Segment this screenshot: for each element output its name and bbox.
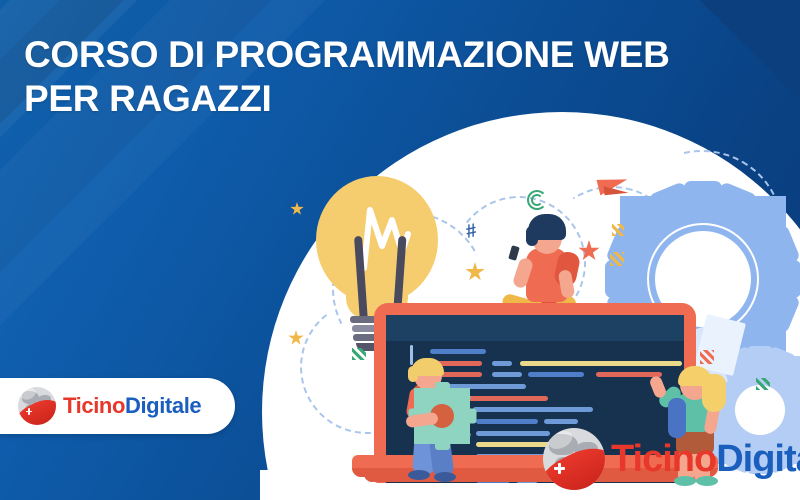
editor-titlebar — [386, 315, 684, 341]
watermark-logo: TicinoDigitale — [543, 428, 800, 490]
logo-wordmark: TicinoDigitale — [63, 395, 201, 417]
zigzag-icon-green — [352, 348, 366, 360]
zigzag-icon-red — [700, 350, 714, 364]
logo-word-ticino: Ticino — [63, 393, 125, 418]
spiral-icon — [531, 194, 543, 206]
globe-swiss-cross-icon — [18, 387, 56, 425]
code-line — [430, 349, 486, 354]
code-line — [520, 361, 682, 366]
star-icon-yellow — [290, 202, 304, 216]
logo-badge[interactable]: TicinoDigitale — [0, 378, 235, 434]
code-line — [528, 372, 584, 377]
watermark-word-digitale: Digitale — [716, 438, 800, 480]
watermark-word-ticino: Ticino — [611, 438, 716, 480]
zigzag-icon-yellow — [610, 252, 624, 266]
code-line — [492, 372, 522, 377]
logo-word-digitale: Digitale — [125, 393, 201, 418]
paper-plane-icon — [598, 172, 642, 202]
zigzag-icon-green — [756, 378, 770, 390]
zigzag-icon-yellow — [612, 224, 624, 236]
character-boy-with-gear — [392, 362, 488, 482]
watermark-wordmark: TicinoDigitale — [611, 440, 800, 478]
globe-swiss-cross-icon — [543, 428, 605, 490]
code-line — [473, 407, 593, 412]
star-icon-yellow — [288, 330, 304, 346]
code-line — [492, 361, 512, 366]
promo-banner: CORSO DI PROGRAMMAZIONE WEB PER RAGAZZI — [0, 0, 800, 500]
code-line — [544, 419, 578, 424]
